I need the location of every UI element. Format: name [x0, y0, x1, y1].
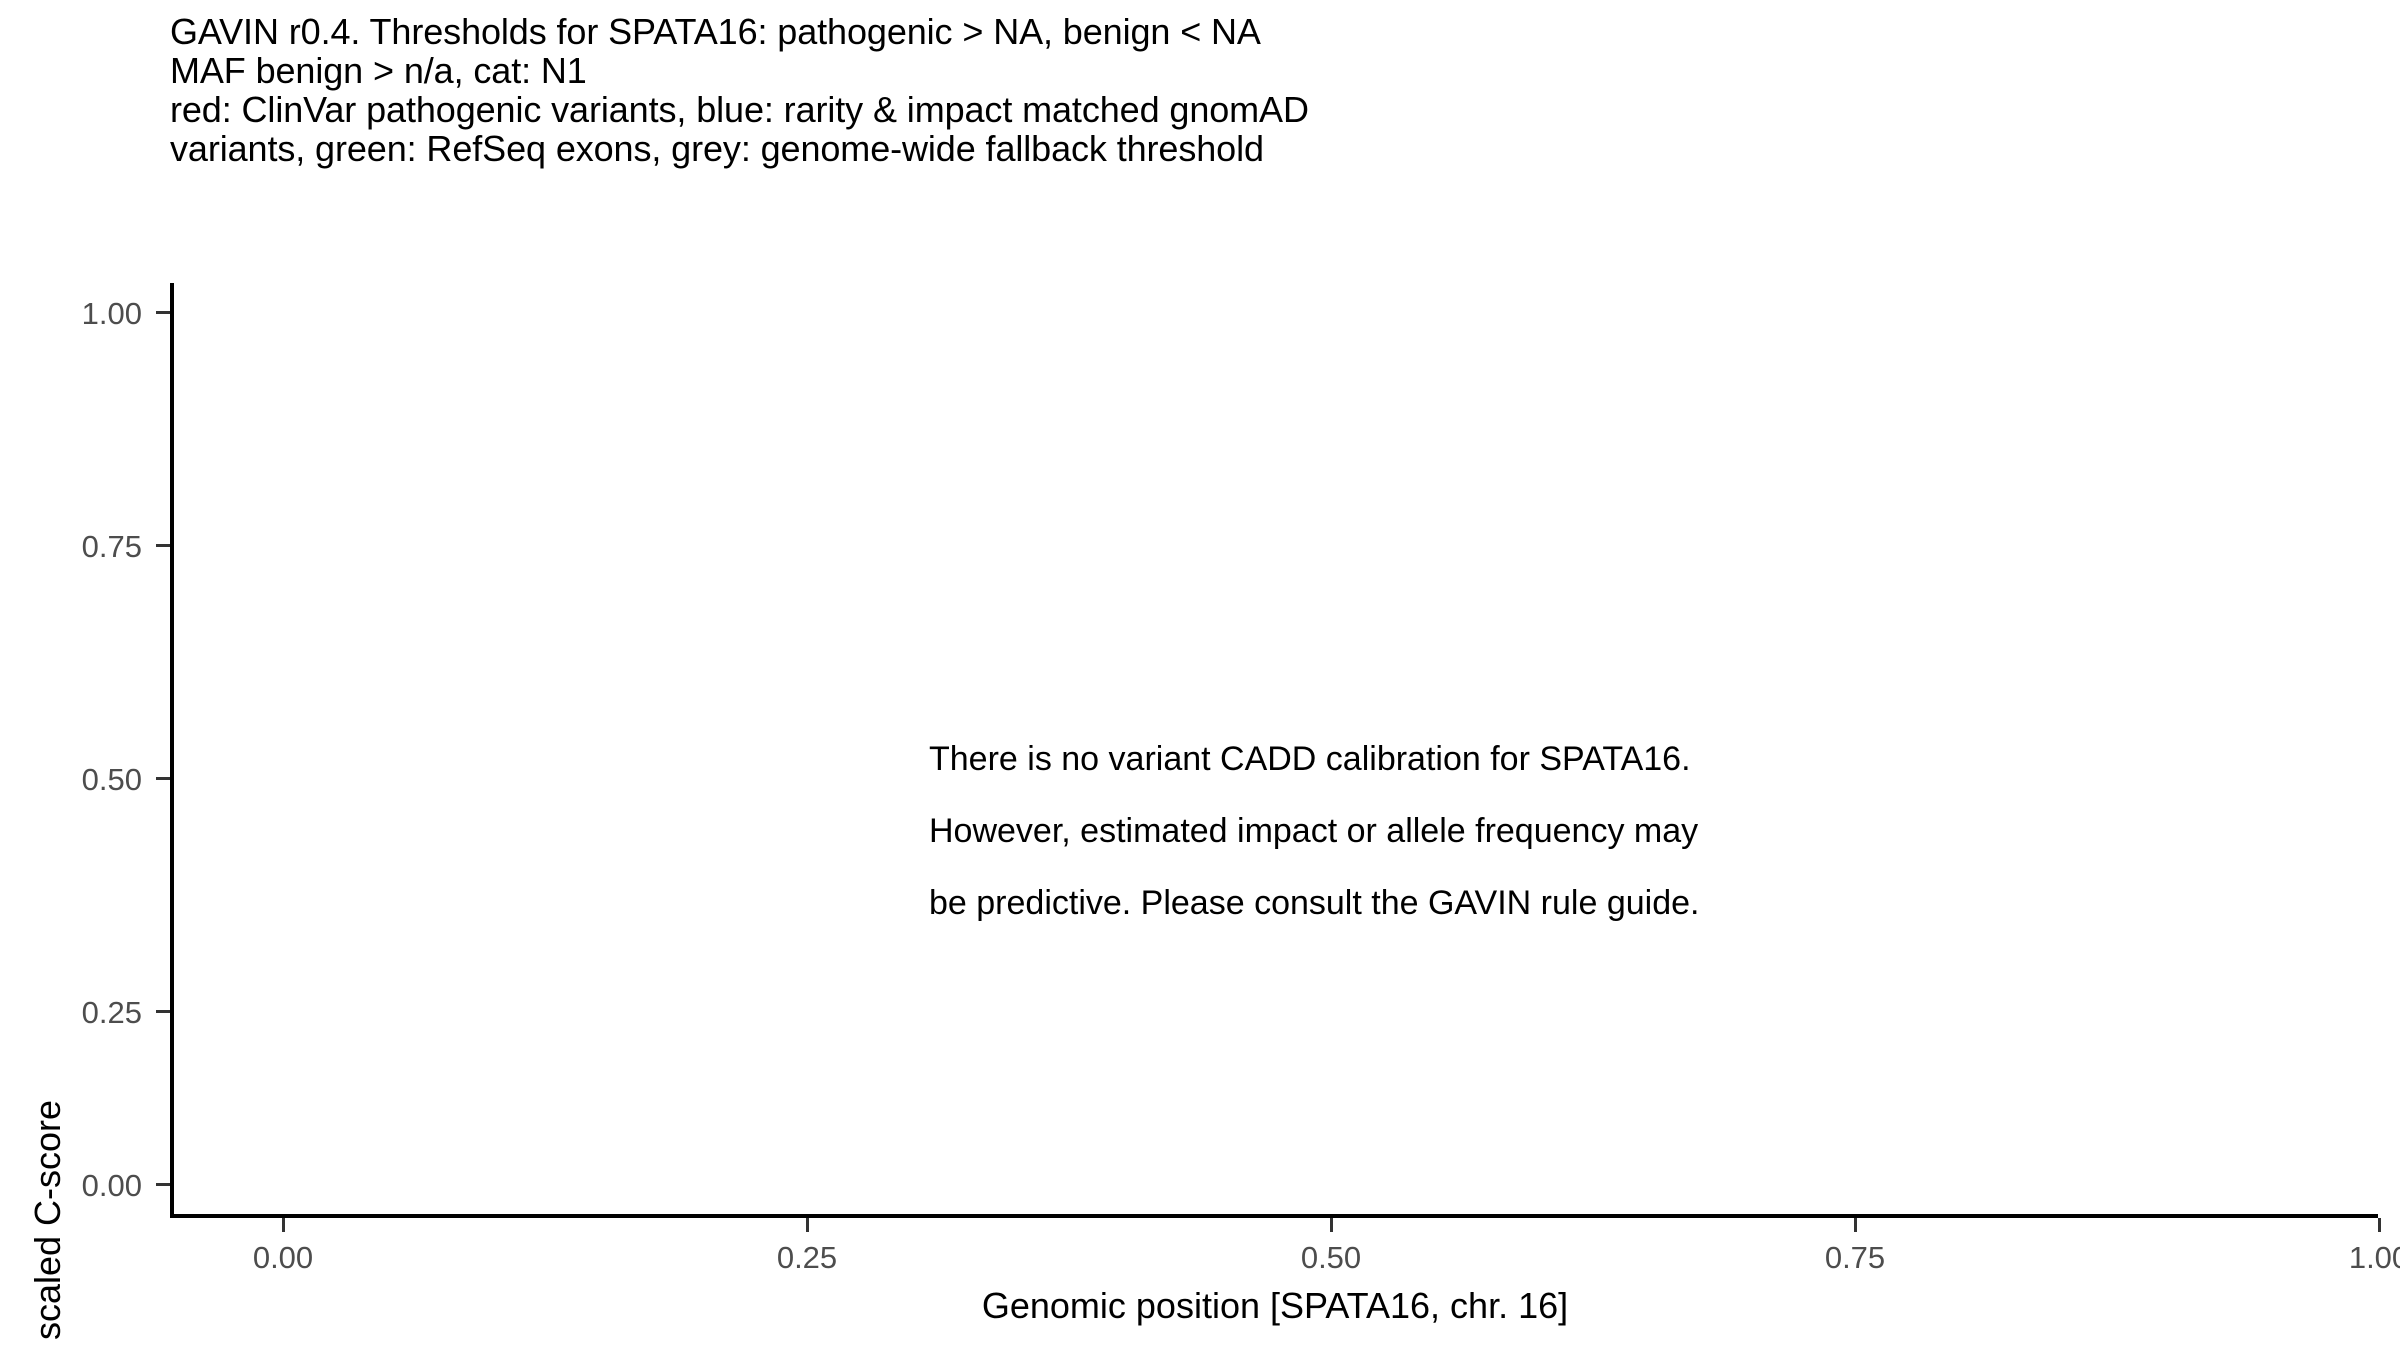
x-tick-mark-0.50 [1330, 1218, 1333, 1232]
x-tick-mark-1.00 [2378, 1218, 2381, 1232]
plot-panel: There is no variant CADD calibration for… [172, 283, 2378, 1215]
y-tick-mark-0.75 [156, 544, 170, 547]
x-axis-title-text: Genomic position [SPATA16, chr. 16] [982, 1285, 1568, 1326]
plot-canvas: GAVIN r0.4. Thresholds for SPATA16: path… [0, 0, 2400, 1350]
y-tick-mark-1.00 [156, 311, 170, 314]
x-axis-title: Genomic position [SPATA16, chr. 16] [172, 1285, 2378, 1327]
panel-annotation-line-1: There is no variant CADD calibration for… [929, 723, 1699, 795]
x-tick-label-1.00: 1.00 [2279, 1240, 2400, 1276]
x-tick-label-0.75: 0.75 [1755, 1240, 1955, 1276]
x-axis-line [170, 1214, 2378, 1218]
y-axis-title: CADD scaled C-score [16, 0, 80, 1350]
x-tick-mark-0.00 [282, 1218, 285, 1232]
y-tick-mark-0.00 [156, 1183, 170, 1186]
y-axis-line [170, 283, 174, 1218]
x-tick-label-0.50: 0.50 [1231, 1240, 1431, 1276]
y-tick-mark-0.25 [156, 1010, 170, 1013]
panel-annotation: There is no variant CADD calibration for… [929, 723, 1699, 939]
x-tick-label-0.25: 0.25 [707, 1240, 907, 1276]
plot-title-line-4: variants, green: RefSeq exons, grey: gen… [170, 129, 2170, 168]
plot-title-line-3: red: ClinVar pathogenic variants, blue: … [170, 90, 2170, 129]
y-axis-title-text: CADD scaled C-score [27, 1100, 69, 1350]
panel-annotation-line-2: However, estimated impact or allele freq… [929, 795, 1699, 867]
x-tick-mark-0.75 [1854, 1218, 1857, 1232]
panel-annotation-line-3: be predictive. Please consult the GAVIN … [929, 867, 1699, 939]
plot-title-line-1: GAVIN r0.4. Thresholds for SPATA16: path… [170, 12, 2170, 51]
x-tick-mark-0.25 [806, 1218, 809, 1232]
y-tick-mark-0.50 [156, 777, 170, 780]
plot-title-line-2: MAF benign > n/a, cat: N1 [170, 51, 2170, 90]
plot-title: GAVIN r0.4. Thresholds for SPATA16: path… [170, 12, 2170, 168]
x-tick-label-0.00: 0.00 [183, 1240, 383, 1276]
